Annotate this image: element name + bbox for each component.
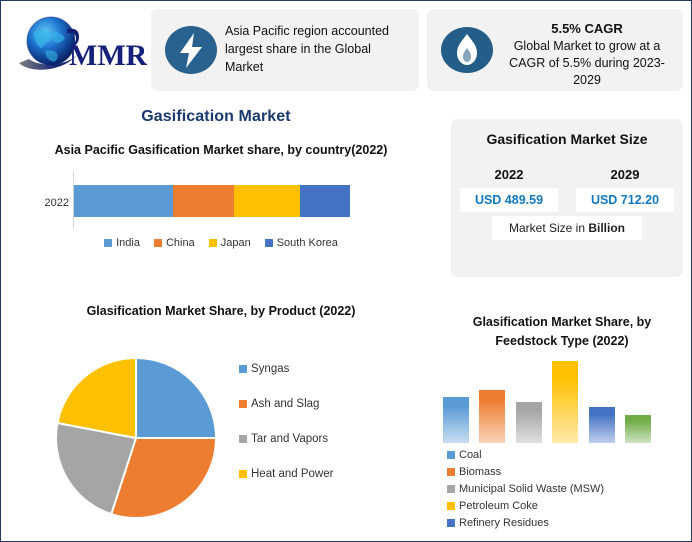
pie-chart: [51, 353, 221, 523]
legend-item-tar-and-vapors: Tar and Vapors: [239, 433, 419, 445]
legend-item-refinery-residues: Refinery Residues: [447, 515, 677, 531]
infographic-page: MMR Asia Pacific region accounted larges…: [0, 0, 692, 542]
legend-swatch: [447, 451, 455, 459]
legend-label: Tar and Vapors: [251, 433, 328, 445]
value-end: USD 712.20: [576, 188, 674, 212]
legend-swatch: [154, 239, 162, 247]
bar-segment-south-korea: [300, 185, 350, 217]
year-end-label: 2029: [577, 167, 673, 182]
chart-product-share-title: Glasification Market Share, by Product (…: [56, 301, 386, 321]
bar-segment-japan: [234, 185, 300, 217]
market-size-title: Gasification Market Size: [451, 119, 683, 147]
bar-segment-india: [74, 185, 173, 217]
legend-label: Municipal Solid Waste (MSW): [459, 481, 604, 497]
mmr-logo: MMR: [15, 11, 147, 79]
chart-product-share-legend: SyngasAsh and SlagTar and VaporsHeat and…: [239, 363, 419, 503]
pie-slice-syngas: [136, 358, 216, 438]
legend-label: Ash and Slag: [251, 398, 319, 410]
cagr-card-text: 5.5% CAGR Global Market to grow at a CAG…: [499, 20, 675, 89]
legend-label: Refinery Residues: [459, 515, 549, 531]
legend-item-petroleum-coke: Petroleum Coke: [447, 498, 677, 514]
year-start-label: 2022: [461, 167, 557, 182]
legend-swatch: [447, 468, 455, 476]
chart-product-share: Glasification Market Share, by Product (…: [11, 301, 431, 536]
unit-prefix: Market Size in: [509, 221, 588, 235]
highlight-card-cagr: 5.5% CAGR Global Market to grow at a CAG…: [427, 9, 683, 91]
cagr-headline: 5.5% CAGR: [499, 20, 675, 37]
market-size-card: Gasification Market Size 2022 2029 USD 4…: [451, 119, 683, 277]
legend-item-coal: Coal: [447, 447, 677, 463]
cagr-body: Global Market to grow at a CAGR of 5.5% …: [509, 39, 665, 87]
legend-item-south-korea: South Korea: [265, 237, 338, 249]
column-bar: [552, 361, 578, 443]
legend-item-municipal-solid-waste-msw: Municipal Solid Waste (MSW): [447, 481, 677, 497]
bar-segment-china: [173, 185, 234, 217]
chart-feedstock-share-title: Glasification Market Share, by Feedstock…: [452, 313, 672, 351]
legend-item-india: India: [104, 237, 140, 249]
legend-swatch: [209, 239, 217, 247]
market-size-values: USD 489.59 USD 712.20: [451, 188, 683, 212]
flame-icon: [441, 24, 493, 76]
legend-label: Heat and Power: [251, 468, 333, 480]
lightning-bolt-icon: [165, 24, 217, 76]
legend-swatch: [239, 400, 247, 408]
legend-label: Syngas: [251, 363, 289, 375]
legend-swatch: [447, 485, 455, 493]
page-title: Gasification Market: [1, 108, 431, 126]
legend-swatch: [104, 239, 112, 247]
chart-feedstock-share-legend: CoalBiomassMunicipal Solid Waste (MSW)Pe…: [447, 447, 677, 532]
legend-item-ash-and-slag: Ash and Slag: [239, 398, 419, 410]
chart-feedstock-share: Glasification Market Share, by Feedstock…: [437, 313, 687, 535]
column-bar: [625, 415, 651, 443]
legend-swatch: [447, 519, 455, 527]
legend-label: South Korea: [277, 237, 338, 249]
legend-swatch: [447, 502, 455, 510]
chart-country-share: Asia Pacific Gasification Market share, …: [11, 141, 431, 281]
legend-swatch: [239, 435, 247, 443]
legend-label: Japan: [221, 237, 251, 249]
highlight-card-region: Asia Pacific region accounted largest sh…: [151, 9, 419, 91]
chart-country-share-legend: IndiaChinaJapanSouth Korea: [11, 237, 431, 249]
legend-label: India: [116, 237, 140, 249]
legend-swatch: [239, 470, 247, 478]
market-size-years: 2022 2029: [451, 167, 683, 182]
globe-swoosh-logo: MMR: [15, 11, 147, 79]
legend-label: Coal: [459, 447, 482, 463]
column-bars: [443, 361, 651, 443]
y-tick-label: 2022: [29, 197, 69, 209]
column-bar: [516, 402, 542, 443]
stacked-bar: [74, 185, 350, 217]
legend-swatch: [265, 239, 273, 247]
svg-text:MMR: MMR: [69, 39, 147, 72]
legend-label: Petroleum Coke: [459, 498, 538, 514]
column-bar: [443, 397, 469, 443]
market-size-unit: Market Size in Billion: [492, 216, 642, 240]
legend-label: Biomass: [459, 464, 501, 480]
unit-bold: Billion: [588, 221, 625, 235]
legend-item-japan: Japan: [209, 237, 251, 249]
legend-item-china: China: [154, 237, 195, 249]
value-start: USD 489.59: [460, 188, 558, 212]
pie-slice-heat-and-power: [57, 358, 136, 438]
chart-country-share-plot: 2022: [11, 171, 431, 229]
column-bar: [589, 407, 615, 443]
legend-swatch: [239, 365, 247, 373]
column-bar: [479, 390, 505, 443]
region-card-text: Asia Pacific region accounted largest sh…: [225, 22, 411, 76]
chart-country-share-title: Asia Pacific Gasification Market share, …: [51, 141, 391, 159]
legend-item-biomass: Biomass: [447, 464, 677, 480]
legend-item-syngas: Syngas: [239, 363, 419, 375]
legend-label: China: [166, 237, 195, 249]
legend-item-heat-and-power: Heat and Power: [239, 468, 419, 480]
